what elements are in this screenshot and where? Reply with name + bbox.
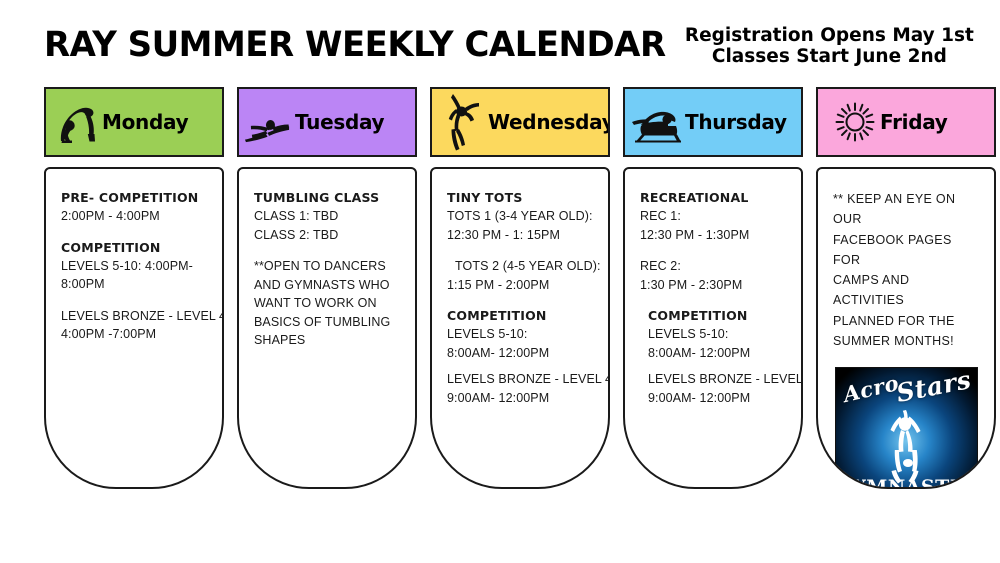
entry-line: TOTS 2 (4-5 YEAR OLD): (447, 257, 593, 276)
day-column-friday: Friday ** KEEP AN EYE ON OUR FACEBOOK PA… (816, 87, 996, 489)
entry-heading: TUMBLING CLASS (254, 189, 400, 207)
schedule-entry: LEVELS BRONZE - LEVEL 4: 9:00AM- 12:00PM (447, 370, 593, 407)
schedule-entry: LEVELS BRONZE - LEVEL 4: 4:00PM -7:00PM (61, 307, 207, 344)
entry-line: **OPEN TO DANCERS (254, 257, 400, 276)
entry-line: LEVELS 5-10: (447, 325, 593, 344)
entry-line: REC 1: (640, 207, 786, 226)
gymnast-split-leap-icon (247, 92, 293, 152)
day-column-thursday: Thursday RECREATIONAL REC 1: 12:30 PM - … (623, 87, 803, 489)
schedule-entry: PRE- COMPETITION 2:00PM - 4:00PM (61, 189, 207, 226)
day-tab-monday[interactable]: Monday (44, 87, 224, 157)
schedule-entry: COMPETITION LEVELS 5-10: 8:00AM- 12:00PM (447, 307, 593, 362)
day-column-monday: Monday PRE- COMPETITION 2:00PM - 4:00PM … (44, 87, 224, 489)
day-label-tuesday: Tuesday (295, 110, 384, 134)
day-tab-wednesday[interactable]: Wednesday (430, 87, 610, 157)
entry-line: LEVELS 5-10: (640, 325, 786, 344)
schedule-entry: TOTS 2 (4-5 YEAR OLD): 1:15 PM - 2:00PM (447, 257, 593, 294)
entry-line: 8:00AM- 12:00PM (447, 344, 593, 363)
day-card-thursday: RECREATIONAL REC 1: 12:30 PM - 1:30PM RE… (623, 167, 803, 489)
entry-heading: PRE- COMPETITION (61, 189, 207, 207)
day-card-wednesday: TINY TOTS TOTS 1 (3-4 YEAR OLD): 12:30 P… (430, 167, 610, 489)
note-line: PLANNED FOR THE (833, 311, 979, 331)
friday-note: ** KEEP AN EYE ON OUR FACEBOOK PAGES FOR… (833, 189, 979, 351)
entry-line: 8:00PM (61, 275, 207, 294)
entry-line: BASICS OF TUMBLING (254, 313, 400, 332)
entry-heading: COMPETITION (640, 307, 786, 325)
schedule-entry: TINY TOTS TOTS 1 (3-4 YEAR OLD): 12:30 P… (447, 189, 593, 244)
weekly-calendar-grid: Monday PRE- COMPETITION 2:00PM - 4:00PM … (44, 87, 956, 489)
day-card-tuesday: TUMBLING CLASS CLASS 1: TBD CLASS 2: TBD… (237, 167, 417, 489)
entry-heading: RECREATIONAL (640, 189, 786, 207)
day-tab-friday[interactable]: Friday (816, 87, 996, 157)
entry-line: 1:15 PM - 2:00PM (447, 276, 593, 295)
classes-start-date: Classes Start June 2nd (685, 47, 974, 68)
entry-line: 4:00PM -7:00PM (61, 325, 207, 344)
entry-line: AND GYMNASTS WHO (254, 276, 400, 295)
entry-line: SHAPES (254, 331, 400, 350)
entry-line: 1:30 PM - 2:30PM (640, 276, 786, 295)
schedule-entry: COMPETITION LEVELS 5-10: 4:00PM- 8:00PM (61, 239, 207, 294)
entry-line: LEVELS BRONZE - LEVEL 4: (447, 370, 593, 389)
entry-line: 2:00PM - 4:00PM (61, 207, 207, 226)
entry-line: 8:00AM- 12:00PM (640, 344, 786, 363)
sun-icon (832, 92, 878, 152)
entry-line: REC 2: (640, 257, 786, 276)
entry-heading: TINY TOTS (447, 189, 593, 207)
schedule-entry: **OPEN TO DANCERS AND GYMNASTS WHO WANT … (254, 257, 400, 350)
logo-word-gymnastics: GYMNASTICS (836, 476, 977, 489)
schedule-entry: TUMBLING CLASS CLASS 1: TBD CLASS 2: TBD (254, 189, 400, 244)
entry-line: WANT TO WORK ON (254, 294, 400, 313)
schedule-entry: RECREATIONAL REC 1: 12:30 PM - 1:30PM (640, 189, 786, 244)
entry-line: LEVELS 5-10: 4:00PM- (61, 257, 207, 276)
note-line: CAMPS AND ACTIVITIES (833, 270, 979, 311)
note-line: ** KEEP AN EYE ON OUR (833, 189, 979, 230)
day-column-wednesday: Wednesday TINY TOTS TOTS 1 (3-4 YEAR OLD… (430, 87, 610, 489)
day-label-monday: Monday (102, 110, 188, 134)
page-title: RAY SUMMER WEEKLY CALENDAR (44, 28, 666, 63)
entry-line: CLASS 1: TBD (254, 207, 400, 226)
day-card-friday: ** KEEP AN EYE ON OUR FACEBOOK PAGES FOR… (816, 167, 996, 489)
entry-line: 9:00AM- 12:00PM (447, 389, 593, 408)
schedule-entry: COMPETITION LEVELS 5-10: 8:00AM- 12:00PM (640, 307, 786, 362)
registration-info: Registration Opens May 1st Classes Start… (685, 26, 1000, 67)
note-line: SUMMER MONTHS! (833, 331, 979, 351)
note-line: FACEBOOK PAGES FOR (833, 230, 979, 271)
day-column-tuesday: Tuesday TUMBLING CLASS CLASS 1: TBD CLAS… (237, 87, 417, 489)
page-header: RAY SUMMER WEEKLY CALENDAR Registration … (0, 0, 1000, 82)
entry-line: CLASS 2: TBD (254, 226, 400, 245)
vault-horse-icon (629, 92, 683, 152)
day-tab-tuesday[interactable]: Tuesday (237, 87, 417, 157)
day-label-wednesday: Wednesday (488, 110, 610, 134)
day-label-thursday: Thursday (685, 110, 787, 134)
logo-container: Acro Stars GYMNASTICS (833, 367, 979, 489)
dancer-pose-icon (440, 92, 486, 152)
entry-line: TOTS 1 (3-4 YEAR OLD): (447, 207, 593, 226)
day-tab-thursday[interactable]: Thursday (623, 87, 803, 157)
entry-heading: COMPETITION (447, 307, 593, 325)
entry-line: 9:00AM- 12:00PM (640, 389, 786, 408)
registration-open-date: Registration Opens May 1st (685, 26, 974, 47)
entry-line: LEVELS BRONZE - LEVEL 4: (61, 307, 207, 326)
acro-stars-gymnastics-logo: Acro Stars GYMNASTICS (835, 367, 978, 489)
schedule-entry: LEVELS BRONZE - LEVEL 4: 9:00AM- 12:00PM (640, 370, 786, 407)
day-label-friday: Friday (880, 110, 948, 134)
day-card-monday: PRE- COMPETITION 2:00PM - 4:00PM COMPETI… (44, 167, 224, 489)
entry-line: 12:30 PM - 1:30PM (640, 226, 786, 245)
entry-line: LEVELS BRONZE - LEVEL 4: (640, 370, 786, 389)
entry-line: 12:30 PM - 1: 15PM (447, 226, 593, 245)
gymnast-backbend-icon (54, 92, 100, 152)
schedule-entry: REC 2: 1:30 PM - 2:30PM (640, 257, 786, 294)
entry-heading: COMPETITION (61, 239, 207, 257)
